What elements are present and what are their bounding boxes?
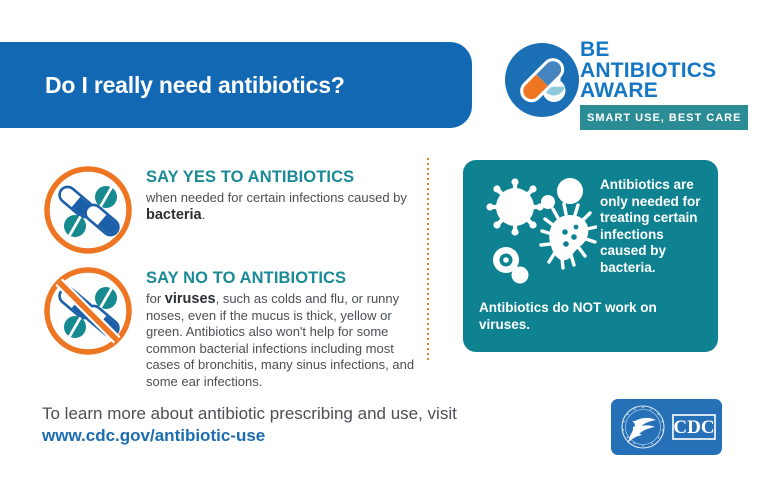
footer-text: To learn more about antibiotic prescribi… [42,403,562,447]
advice-heading-yes: SAY YES TO ANTIBIOTICS [146,168,415,187]
advice-body-no: for viruses, such as colds and flu, or r… [146,291,415,390]
baa-text-block: BE ANTIBIOTICS AWARE SMART USE, BEST CAR… [580,40,748,130]
advice-body-yes-after: . [202,207,206,222]
germs-icon [479,174,597,294]
pills-circle-icon [40,162,136,258]
baa-line-1: BE [580,40,748,61]
advice-body-no-before: for [146,291,165,306]
advice-body-yes-before: when needed for certain infections cause… [146,190,407,205]
cdc-wordmark: CDC [673,417,714,438]
info-box-sub-text: Antibiotics do NOT work on viruses. [479,300,704,333]
advice-body-yes-emphasis: bacteria [146,207,202,223]
advice-body-yes: when needed for certain infections cause… [146,190,415,223]
baa-tagline-bar: SMART USE, BEST CARE [580,105,748,130]
baa-emblem-icon [503,41,581,119]
advice-block-yes: SAY YES TO ANTIBIOTICS when needed for c… [40,162,415,258]
be-antibiotics-aware-logo: BE ANTIBIOTICS AWARE SMART USE, BEST CAR… [503,40,748,132]
baa-line-3: AWARE [580,81,748,102]
info-box: Antibiotics are only needed for treating… [463,160,718,352]
advice-block-no: SAY NO TO ANTIBIOTICS for viruses, such … [40,263,415,390]
baa-line-2: ANTIBIOTICS [580,61,748,82]
cdc-hhs-logo: CDC [611,399,722,455]
advice-heading-no: SAY NO TO ANTIBIOTICS [146,269,415,288]
pills-prohibited-icon [40,263,136,359]
advice-text-no: SAY NO TO ANTIBIOTICS for viruses, such … [136,263,415,390]
advice-body-no-emphasis: viruses [165,291,216,307]
header-banner: Do I really need antibiotics? [0,42,472,128]
dotted-divider [427,158,429,363]
cdc-antibiotic-use-link[interactable]: www.cdc.gov/antibiotic-use [42,426,265,445]
page-title: Do I really need antibiotics? [0,72,345,99]
baa-tagline: SMART USE, BEST CARE [587,112,741,124]
info-box-main-text: Antibiotics are only needed for treating… [600,177,712,276]
infographic-page: Do I really need antibiotics? BE ANTIBIO… [0,0,768,486]
footer-text-lead: To learn more about antibiotic prescribi… [42,404,457,423]
advice-text-yes: SAY YES TO ANTIBIOTICS when needed for c… [136,162,415,223]
